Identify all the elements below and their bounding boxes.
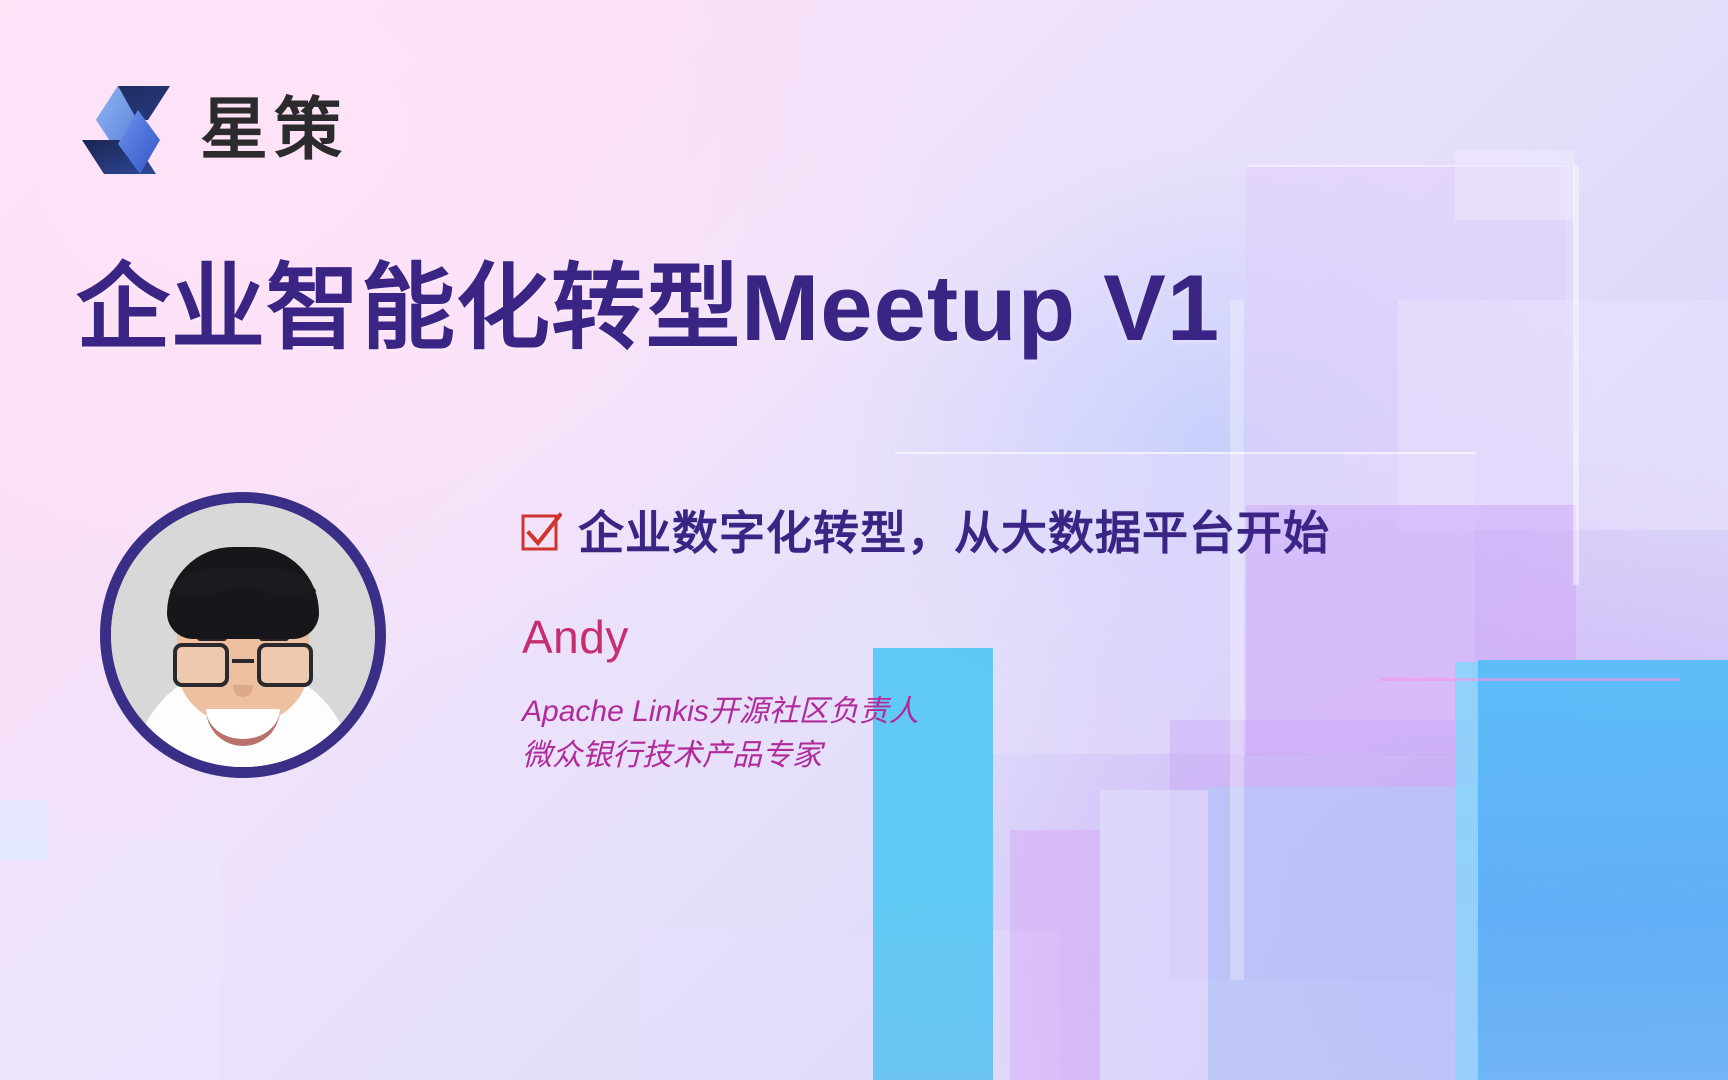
speaker-titles: Apache Linkis开源社区负责人 微众银行技术产品专家 — [522, 690, 919, 777]
speaker-title-line-1: Apache Linkis开源社区负责人 — [522, 690, 919, 734]
star-ce-cube-logo-icon — [78, 78, 174, 182]
glass-rect-7 — [0, 800, 48, 860]
glass-rect-6 — [0, 838, 220, 1080]
cyan-edge-bar — [1455, 662, 1483, 1080]
session-topic: 企业数字化转型，从大数据平台开始 — [578, 510, 1330, 556]
event-poster: 星策 企业智能化转型Meetup V1 企业数字化转型 — [0, 0, 1728, 1080]
speaker-name: Andy — [522, 614, 629, 660]
glass-rect-5 — [1170, 720, 1728, 980]
blue-glow-shape — [848, 140, 1608, 760]
white-seam-vertical — [1230, 300, 1244, 980]
glass-rect-1 — [1246, 165, 1566, 507]
brand-name: 星策 — [200, 96, 348, 164]
glass-rect-9 — [640, 930, 1060, 1080]
glass-rect-8 — [1455, 150, 1575, 220]
avatar — [100, 492, 386, 778]
white-seam-vertical-2 — [1573, 165, 1579, 585]
speaker-title-line-2: 微众银行技术产品专家 — [522, 734, 919, 778]
brand-logo: 星策 — [78, 78, 348, 182]
blue-bar-right — [1478, 660, 1728, 1080]
glass-rect-2 — [1398, 300, 1728, 530]
violet-bar-5 — [1010, 830, 1100, 1080]
blue-panel-4 — [1206, 787, 1476, 1080]
session-topic-row: 企业数字化转型，从大数据平台开始 — [520, 510, 1330, 556]
pink-seam-horizontal — [1380, 678, 1680, 681]
speaker-avatar-photo — [111, 503, 375, 767]
checked-checkbox-icon — [520, 512, 562, 554]
glass-rect-3 — [895, 452, 1475, 754]
glass-rect-6b — [1100, 790, 1208, 1080]
page-title: 企业智能化转型Meetup V1 — [76, 254, 1220, 362]
